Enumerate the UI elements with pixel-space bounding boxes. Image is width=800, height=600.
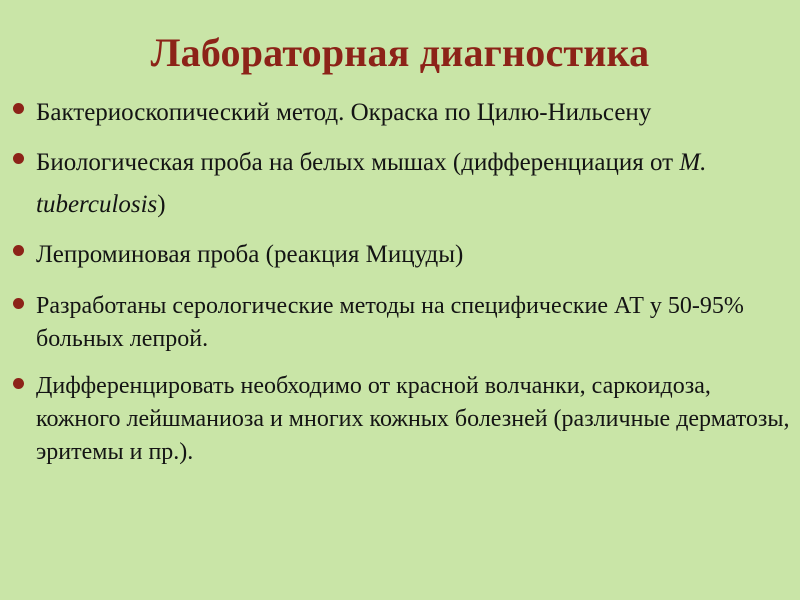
- list-item-text: Дифференцировать необходимо от красной в…: [36, 370, 792, 469]
- presentation-slide: Лабораторная диагностика Бактериоскопиче…: [0, 0, 800, 600]
- list-item-text: Разработаны серологические методы на спе…: [36, 290, 792, 356]
- page-title: Лабораторная диагностика: [0, 30, 800, 76]
- list-item: Дифференцировать необходимо от красной в…: [0, 370, 800, 469]
- bullet-point-icon: [13, 298, 24, 309]
- bullet-point-icon: [13, 103, 24, 114]
- list-item: Биологическая проба на белых мышах (дифф…: [0, 142, 800, 226]
- list-item: Бактериоскопический метод. Окраска по Ци…: [0, 92, 800, 134]
- bullet-point-icon: [13, 153, 24, 164]
- list-item: Лепроминовая проба (реакция Мицуды): [0, 234, 800, 276]
- list-item-text: Биологическая проба на белых мышах (дифф…: [36, 142, 792, 226]
- list-item-text: Бактериоскопический метод. Окраска по Ци…: [36, 92, 792, 134]
- list-item-text: Лепроминовая проба (реакция Мицуды): [36, 234, 792, 276]
- bullet-point-icon: [13, 378, 24, 389]
- bullet-list: Бактериоскопический метод. Окраска по Ци…: [0, 92, 800, 481]
- list-item: Разработаны серологические методы на спе…: [0, 290, 800, 356]
- list-item-text-before: Биологическая проба на белых мышах (дифф…: [36, 149, 679, 176]
- list-item-text-after: ): [157, 191, 165, 218]
- bullet-point-icon: [13, 245, 24, 256]
